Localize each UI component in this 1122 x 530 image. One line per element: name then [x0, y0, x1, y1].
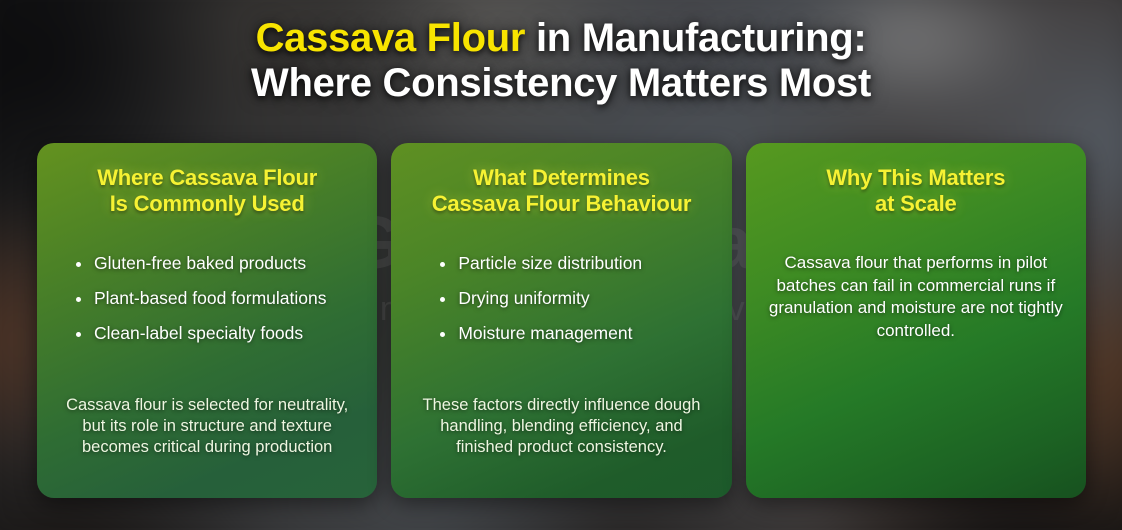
card-1-footer-text: Cassava flour is selected for neutrality…	[52, 395, 362, 482]
list-item: Drying uniformity	[438, 289, 716, 309]
title-accent-text: Cassava Flour	[256, 16, 526, 60]
list-item: Gluten-free baked products	[74, 254, 362, 274]
card-2-bullet-list: Particle size distribution Drying unifor…	[406, 254, 716, 358]
list-item: Clean-label specialty foods	[74, 324, 362, 344]
card-2-heading-line-1: What Determines	[406, 165, 716, 191]
title-line-1: Cassava Flour in Manufacturing:	[0, 16, 1122, 61]
title-line-2: Where Consistency Matters Most	[0, 61, 1122, 106]
card-row: Where Cassava Flour Is Commonly Used Glu…	[37, 143, 1086, 498]
list-item: Particle size distribution	[438, 254, 716, 274]
title-rest-text: in Manufacturing:	[525, 16, 866, 60]
card-1-bullet-list: Gluten-free baked products Plant-based f…	[52, 254, 362, 358]
card-1-heading: Where Cassava Flour Is Commonly Used	[52, 165, 362, 216]
card-why-this-matters-at-scale: Why This Matters at Scale Cassava flour …	[746, 143, 1086, 498]
card-2-heading-line-2: Cassava Flour Behaviour	[406, 191, 716, 217]
card-2-footer-text: These factors directly influence dough h…	[406, 395, 716, 482]
card-what-determines-cassava-flour-behaviour: What Determines Cassava Flour Behaviour …	[391, 143, 731, 498]
card-3-body-text: Cassava flour that performs in pilot bat…	[761, 252, 1071, 342]
card-3-heading-line-2: at Scale	[761, 191, 1071, 217]
card-3-heading-line-1: Why This Matters	[761, 165, 1071, 191]
list-item: Moisture management	[438, 324, 716, 344]
page-title: Cassava Flour in Manufacturing: Where Co…	[0, 16, 1122, 106]
card-where-cassava-flour-is-commonly-used: Where Cassava Flour Is Commonly Used Glu…	[37, 143, 377, 498]
card-1-heading-line-1: Where Cassava Flour	[52, 165, 362, 191]
card-3-heading: Why This Matters at Scale	[761, 165, 1071, 216]
list-item: Plant-based food formulations	[74, 289, 362, 309]
card-2-heading: What Determines Cassava Flour Behaviour	[406, 165, 716, 216]
card-1-heading-line-2: Is Commonly Used	[52, 191, 362, 217]
